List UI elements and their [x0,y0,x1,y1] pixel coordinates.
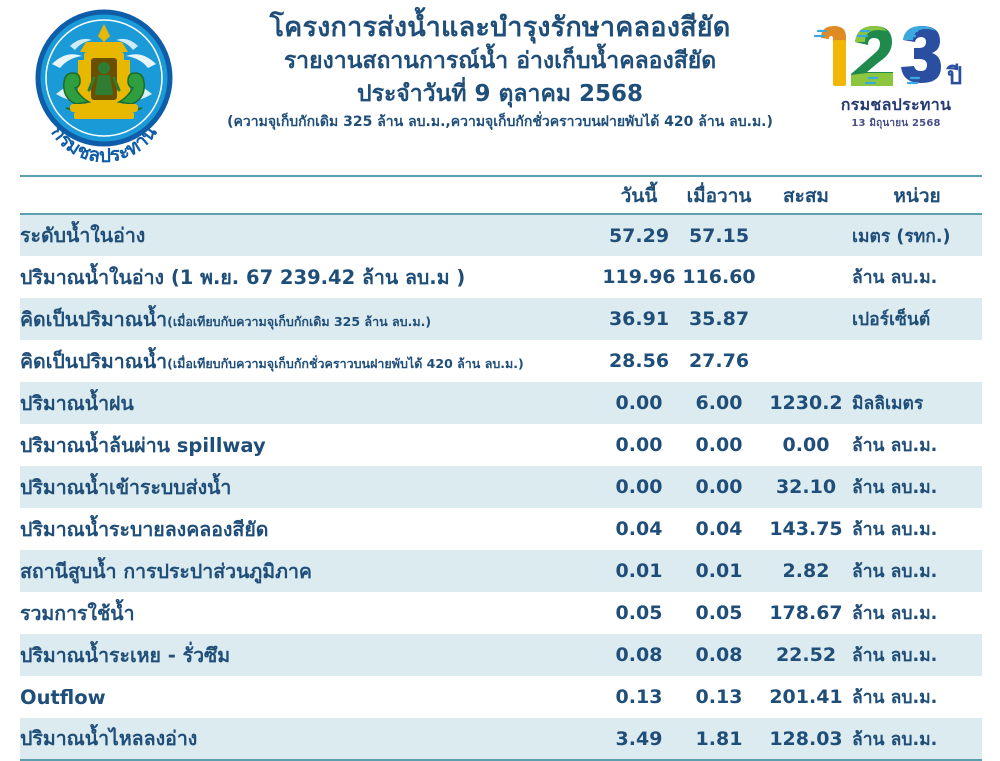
row-label-main: ระดับน้ำในอ่าง [20,224,145,247]
row-label-main: Outflow [20,686,106,709]
row-label-main: ปริมาณน้ำในอ่าง (1 พ.ย. 67 239.42 ล้าน ล… [20,266,465,289]
row-label: ปริมาณน้ำล้นผ่าน spillway [20,424,600,466]
column-header-accumulated: สะสม [760,179,852,214]
column-header-unit: หน่วย [852,179,982,214]
row-label: รวมการใช้น้ำ [20,592,600,634]
row-value-yesterday: 1.81 [678,718,760,760]
row-value-yesterday: 35.87 [678,298,760,340]
table-row: ปริมาณน้ำเข้าระบบส่งน้ำ0.000.0032.10ล้าน… [20,466,982,508]
anniversary-year-word: ปี [946,62,962,90]
row-value-yesterday: 0.01 [678,550,760,592]
row-value-accumulated: 2.82 [760,550,852,592]
table-row: รวมการใช้น้ำ0.050.05178.67ล้าน ลบ.ม. [20,592,982,634]
row-unit: เมตร (รทก.) [852,214,982,256]
row-value-accumulated: 128.03 [760,718,852,760]
row-value-accumulated: 32.10 [760,466,852,508]
row-label-main: รวมการใช้น้ำ [20,602,135,625]
row-value-yesterday: 0.05 [678,592,760,634]
table-row: คิดเป็นปริมาณน้ำ(เมื่อเทียบกับความจุเก็บ… [20,340,982,382]
row-value-accumulated [760,340,852,382]
column-header-label [20,179,600,214]
row-value-today: 36.91 [600,298,678,340]
row-label-main: ปริมาณน้ำไหลลงอ่าง [20,727,197,750]
table-row: ปริมาณน้ำระเหย - รั่วซึม0.080.0822.52ล้า… [20,634,982,676]
row-unit: ล้าน ลบ.ม. [852,466,982,508]
row-label: ปริมาณน้ำระบายลงคลองสียัด [20,508,600,550]
row-label: ปริมาณน้ำฝน [20,382,600,424]
page-subtitle: รายงานสถานการณ์น้ำ อ่างเก็บน้ำคลองสียัด [190,47,810,77]
row-label-note: (เมื่อเทียบกับความจุเก็บกักชั่วคราวบนฝาย… [167,356,524,371]
title-block: โครงการส่งน้ำและบำรุงรักษาคลองสียัด รายง… [190,12,810,131]
row-value-accumulated: 0.00 [760,424,852,466]
table-row: ปริมาณน้ำฝน0.006.001230.2มิลลิเมตร [20,382,982,424]
table-row: ปริมาณน้ำไหลลงอ่าง3.491.81128.03ล้าน ลบ.… [20,718,982,760]
row-value-yesterday: 0.00 [678,424,760,466]
page-title: โครงการส่งน้ำและบำรุงรักษาคลองสียัด [190,12,810,45]
row-label-main: ปริมาณน้ำฝน [20,392,134,415]
row-value-accumulated: 178.67 [760,592,852,634]
report-date: ประจำวันที่ 9 ตุลาคม 2568 [190,80,810,110]
row-unit: ล้าน ลบ.ม. [852,592,982,634]
table-row: สถานีสูบน้ำ การประปาส่วนภูมิภาค0.010.012… [20,550,982,592]
row-value-yesterday: 0.08 [678,634,760,676]
row-value-yesterday: 6.00 [678,382,760,424]
water-situation-table-wrapper: วันนี้ เมื่อวาน สะสม หน่วย ระดับน้ำในอ่า… [20,179,982,761]
row-unit: ล้าน ลบ.ม. [852,676,982,718]
row-value-today: 119.96 [600,256,678,298]
row-unit: มิลลิเมตร [852,382,982,424]
row-value-accumulated [760,256,852,298]
row-value-today: 0.05 [600,592,678,634]
table-row: คิดเป็นปริมาณน้ำ(เมื่อเทียบกับความจุเก็บ… [20,298,982,340]
row-label: ปริมาณน้ำไหลลงอ่าง [20,718,600,760]
column-header-today: วันนี้ [600,179,678,214]
row-unit: ล้าน ลบ.ม. [852,634,982,676]
row-label: สถานีสูบน้ำ การประปาส่วนภูมิภาค [20,550,600,592]
capacity-note: (ความจุเก็บกักเดิม 325 ล้าน ลบ.ม.,ความจุ… [190,114,810,132]
row-value-yesterday: 57.15 [678,214,760,256]
anniversary-org-name: กรมชลประทาน [806,97,986,114]
row-value-today: 0.00 [600,424,678,466]
row-unit: ล้าน ลบ.ม. [852,550,982,592]
royal-irrigation-department-seal-icon: กรมชลประทาน [26,8,182,164]
row-label-main: คิดเป็นปริมาณน้ำ [20,350,167,373]
table-row: Outflow0.130.13201.41ล้าน ลบ.ม. [20,676,982,718]
row-unit: ล้าน ลบ.ม. [852,718,982,760]
table-header: วันนี้ เมื่อวาน สะสม หน่วย [20,179,982,214]
row-value-today: 0.01 [600,550,678,592]
table-header-row: วันนี้ เมื่อวาน สะสม หน่วย [20,179,982,214]
row-value-today: 3.49 [600,718,678,760]
column-header-yesterday: เมื่อวาน [678,179,760,214]
row-value-today: 0.08 [600,634,678,676]
table-body: ระดับน้ำในอ่าง57.2957.15เมตร (รทก.)ปริมา… [20,214,982,760]
row-value-accumulated: 201.41 [760,676,852,718]
row-unit [852,340,982,382]
row-label-main: คิดเป็นปริมาณน้ำ [20,308,167,331]
row-label: Outflow [20,676,600,718]
table-row: ระดับน้ำในอ่าง57.2957.15เมตร (รทก.) [20,214,982,256]
row-unit: เปอร์เซ็นต์ [852,298,982,340]
row-label: ระดับน้ำในอ่าง [20,214,600,256]
row-label-note: (เมื่อเทียบกับความจุเก็บกักเดิม 325 ล้าน… [167,314,431,329]
header-divider [20,175,982,177]
row-unit: ล้าน ลบ.ม. [852,256,982,298]
row-value-today: 0.04 [600,508,678,550]
row-value-yesterday: 0.04 [678,508,760,550]
anniversary-date: 13 มิถุนายน 2568 [806,116,986,131]
row-label-main: สถานีสูบน้ำ การประปาส่วนภูมิภาค [20,560,312,583]
row-value-today: 28.56 [600,340,678,382]
row-label-main: ปริมาณน้ำระเหย - รั่วซึม [20,644,230,667]
row-label: ปริมาณน้ำเข้าระบบส่งน้ำ [20,466,600,508]
row-value-today: 57.29 [600,214,678,256]
row-label-main: ปริมาณน้ำเข้าระบบส่งน้ำ [20,476,231,499]
table-row: ปริมาณน้ำล้นผ่าน spillway0.000.000.00ล้า… [20,424,982,466]
row-value-accumulated: 1230.2 [760,382,852,424]
row-label: คิดเป็นปริมาณน้ำ(เมื่อเทียบกับความจุเก็บ… [20,298,600,340]
row-label: ปริมาณน้ำระเหย - รั่วซึม [20,634,600,676]
row-value-yesterday: 27.76 [678,340,760,382]
anniversary-numerals-icon: ปี [806,18,986,96]
table-row: ปริมาณน้ำระบายลงคลองสียัด0.040.04143.75ล… [20,508,982,550]
row-label: คิดเป็นปริมาณน้ำ(เมื่อเทียบกับความจุเก็บ… [20,340,600,382]
row-value-today: 0.00 [600,382,678,424]
row-value-yesterday: 116.60 [678,256,760,298]
anniversary-logo: ปี กรมชลประทาน 13 มิถุนายน 2568 [806,18,986,150]
row-value-yesterday: 0.00 [678,466,760,508]
row-unit: ล้าน ลบ.ม. [852,508,982,550]
row-label-main: ปริมาณน้ำระบายลงคลองสียัด [20,518,268,541]
row-unit: ล้าน ลบ.ม. [852,424,982,466]
row-value-accumulated [760,214,852,256]
row-value-accumulated: 143.75 [760,508,852,550]
table-row: ปริมาณน้ำในอ่าง (1 พ.ย. 67 239.42 ล้าน ล… [20,256,982,298]
row-value-accumulated [760,298,852,340]
row-value-today: 0.00 [600,466,678,508]
row-value-today: 0.13 [600,676,678,718]
row-label: ปริมาณน้ำในอ่าง (1 พ.ย. 67 239.42 ล้าน ล… [20,256,600,298]
row-value-accumulated: 22.52 [760,634,852,676]
row-value-yesterday: 0.13 [678,676,760,718]
page-header: กรมชลประทาน โครงการส่งน้ำและบำรุงรักษาคล… [0,0,1000,172]
row-label-main: ปริมาณน้ำล้นผ่าน spillway [20,434,266,457]
water-situation-table: วันนี้ เมื่อวาน สะสม หน่วย ระดับน้ำในอ่า… [20,179,982,761]
